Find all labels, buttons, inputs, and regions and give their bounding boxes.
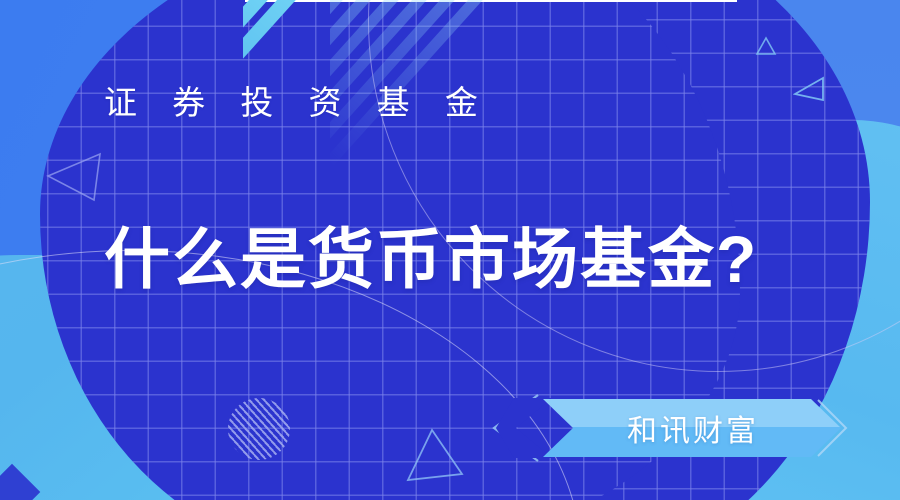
triangle-outline-left-icon	[46, 146, 106, 202]
poster-canvas: 证 券 投 资 基 金 什么是货币市场基金? 和讯财富	[0, 0, 900, 500]
triangle-outline-right-icon	[793, 76, 825, 102]
poster-title: 什么是货币市场基金?	[104, 206, 758, 302]
triangle-outline-small-top-icon	[755, 36, 777, 56]
hatched-circle-icon	[228, 398, 290, 460]
triangle-outline-bottom-icon	[404, 428, 466, 486]
brand-name-label: 和讯财富	[543, 394, 843, 462]
poster-subtitle: 证 券 投 资 基 金	[104, 76, 491, 124]
